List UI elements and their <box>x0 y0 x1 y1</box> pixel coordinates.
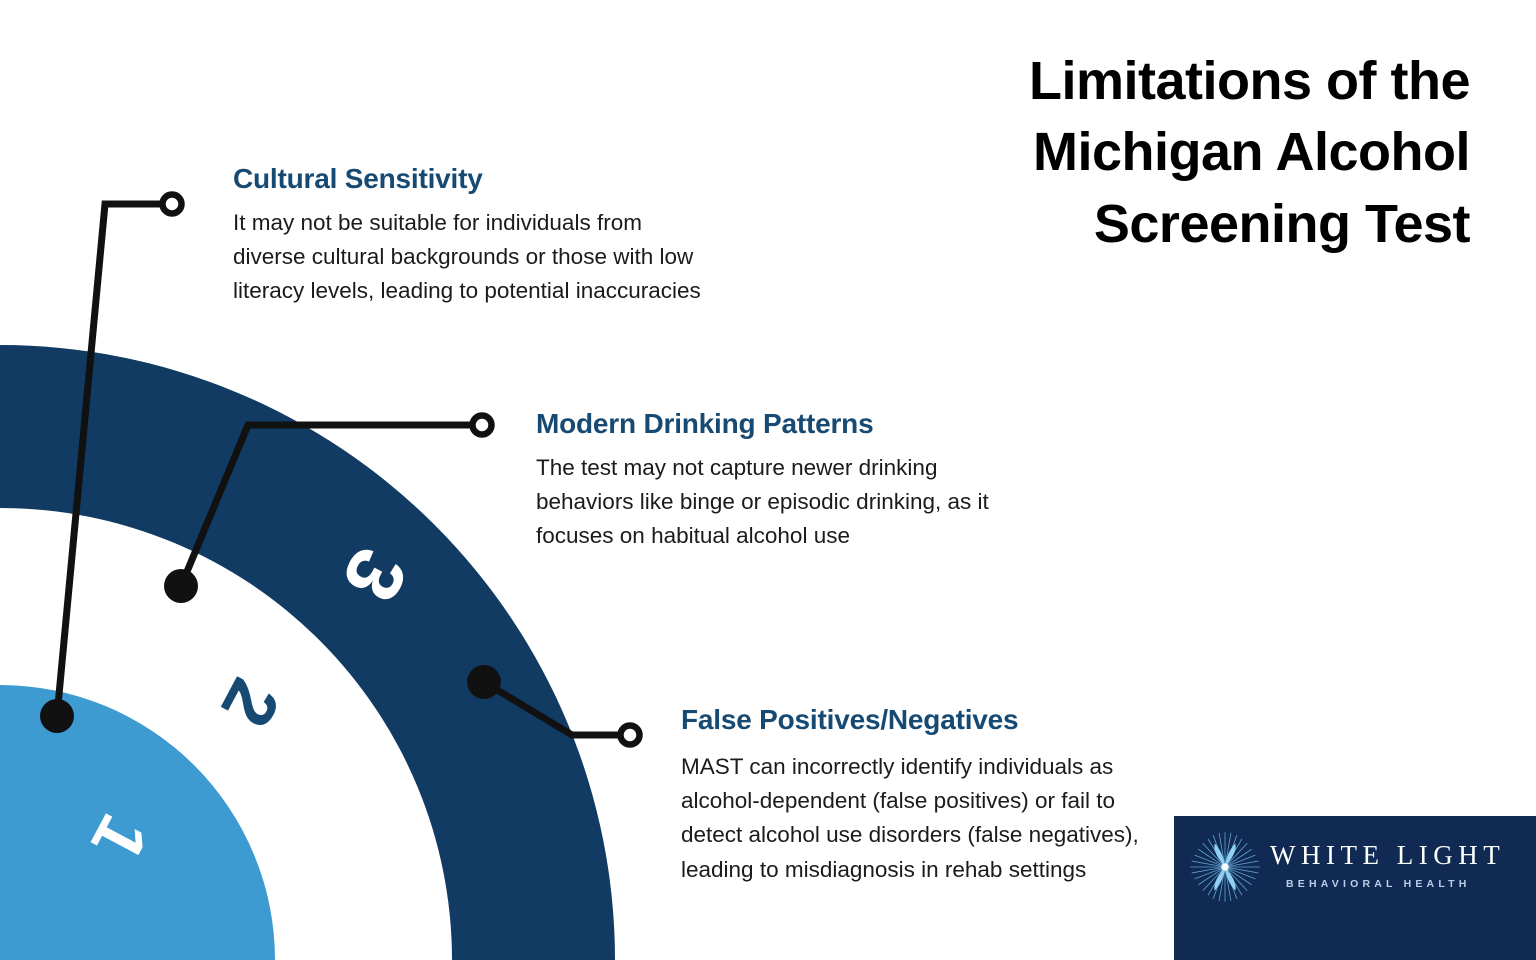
arc-number-1: 1 <box>76 803 163 874</box>
connector-3 <box>467 665 640 745</box>
connector-2-endpoint-dot <box>164 569 198 603</box>
connector-3-endpoint-dot <box>467 665 501 699</box>
callout-1-heading: Cultural Sensitivity <box>233 163 703 195</box>
connector-1 <box>40 195 182 734</box>
callout-cultural-sensitivity: Cultural Sensitivity It may not be suita… <box>233 163 703 309</box>
arc-number-2: 2 <box>205 667 294 740</box>
starburst-icon <box>1188 830 1262 904</box>
arc-segment-inner <box>0 685 275 960</box>
callout-1-body: It may not be suitable for individuals f… <box>233 206 703 309</box>
callout-2-heading: Modern Drinking Patterns <box>536 408 1006 440</box>
arc-segment-outer <box>0 345 615 960</box>
page-title-line-3: Screening Test <box>830 189 1470 260</box>
connector-1-ring-node <box>163 195 182 214</box>
callout-false-positives-negatives: False Positives/Negatives MAST can incor… <box>681 704 1173 887</box>
arc-number-3: 3 <box>325 534 424 615</box>
connector-2-ring-node <box>473 416 492 435</box>
logo-name: WHITE LIGHT <box>1270 840 1520 871</box>
callout-3-heading: False Positives/Negatives <box>681 704 1173 736</box>
page-title: Limitations of the Michigan Alcohol Scre… <box>830 46 1470 260</box>
infographic-canvas: 3 2 1 Limitations of the Michigan Alcoho… <box>0 0 1536 960</box>
page-title-line-2: Michigan Alcohol <box>830 117 1470 188</box>
connector-2 <box>164 416 492 604</box>
connector-3-ring-node <box>621 726 640 745</box>
brand-logo: WHITE LIGHT BEHAVIORAL HEALTH <box>1174 816 1536 960</box>
page-title-line-1: Limitations of the <box>830 46 1470 117</box>
logo-tagline: BEHAVIORAL HEALTH <box>1270 878 1520 890</box>
callout-3-body: MAST can incorrectly identify individual… <box>681 750 1173 887</box>
logo-wordmark: WHITE LIGHT BEHAVIORAL HEALTH <box>1270 840 1520 890</box>
callout-2-body: The test may not capture newer drinking … <box>536 451 1006 554</box>
callout-modern-drinking-patterns: Modern Drinking Patterns The test may no… <box>536 408 1006 554</box>
connector-1-endpoint-dot <box>40 699 74 733</box>
